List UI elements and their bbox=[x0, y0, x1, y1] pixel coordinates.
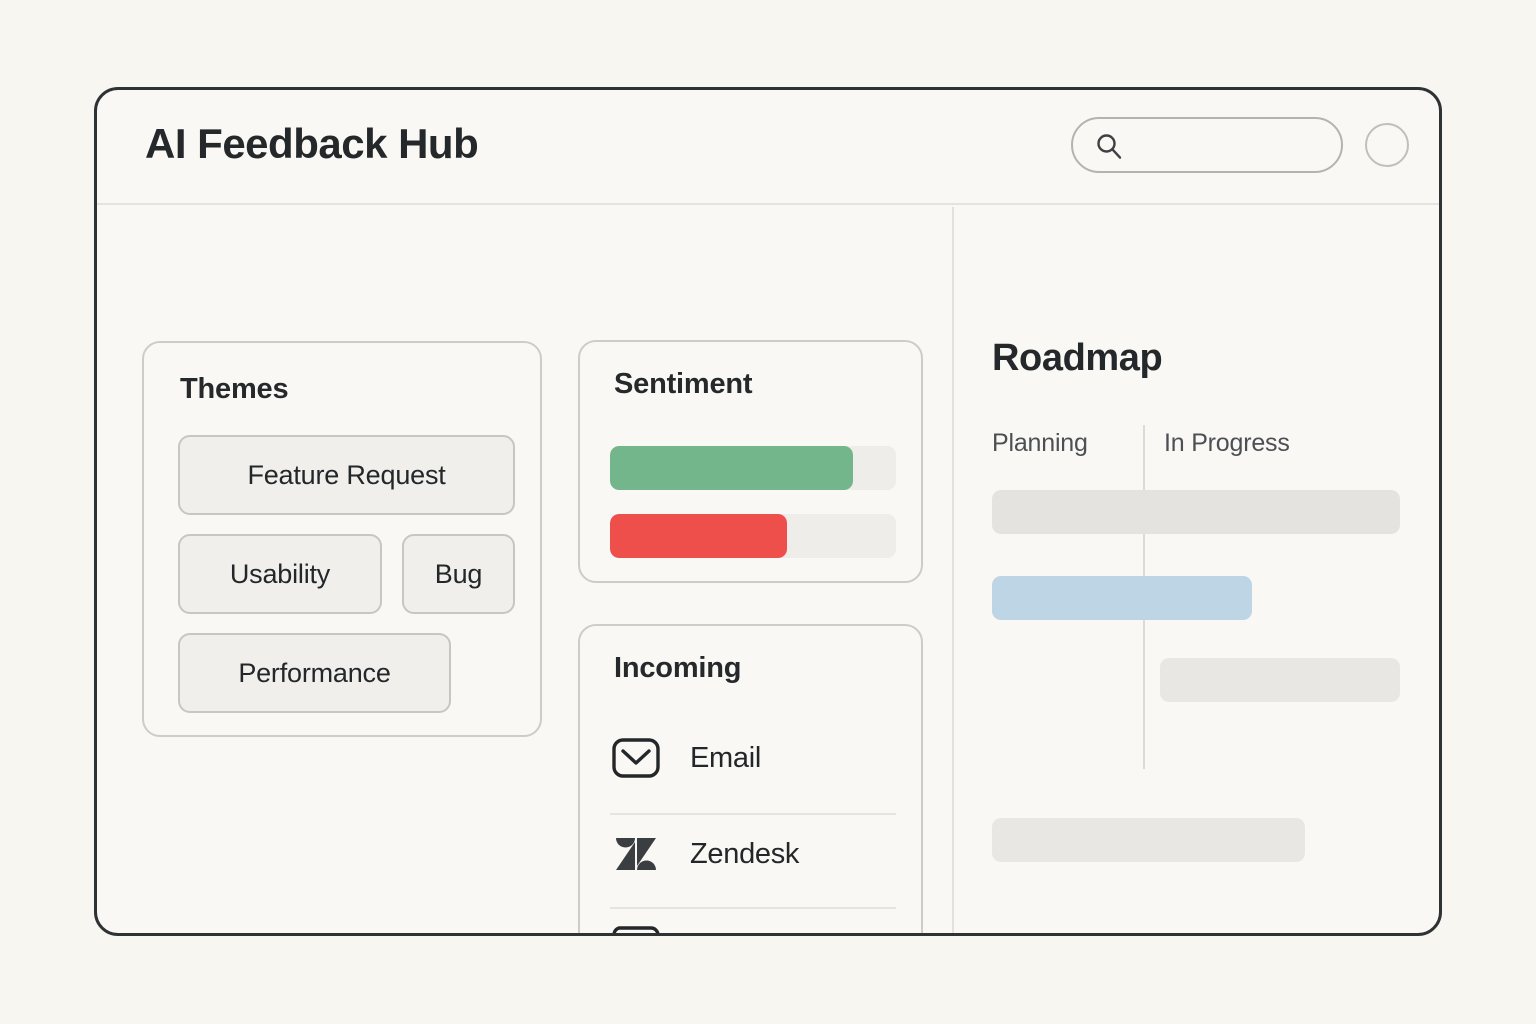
title-bar: AI Feedback Hub bbox=[97, 90, 1439, 205]
search-icon bbox=[1095, 132, 1123, 160]
theme-chip-bug[interactable]: Bug bbox=[402, 534, 515, 614]
sentiment-negative-bar bbox=[610, 514, 787, 558]
sentiment-positive-bar bbox=[610, 446, 853, 490]
envelope-icon bbox=[610, 732, 666, 784]
search-field[interactable] bbox=[1135, 119, 1325, 173]
theme-chip-performance[interactable]: Performance bbox=[178, 633, 451, 713]
roadmap-column-planning[interactable]: Planning bbox=[992, 429, 1088, 458]
roadmap-column-in-progress[interactable]: In Progress bbox=[1164, 429, 1290, 458]
channel-row-zendesk[interactable]: Zendesk bbox=[610, 813, 896, 893]
page-title: AI Feedback Hub bbox=[145, 120, 478, 168]
theme-chip-feature-request[interactable]: Feature Request bbox=[178, 435, 515, 515]
sentiment-panel: Sentiment bbox=[578, 340, 923, 583]
roadmap-panel: Roadmap Planning In Progress bbox=[992, 337, 1412, 936]
sentiment-title: Sentiment bbox=[614, 368, 752, 401]
sentiment-positive-track bbox=[610, 446, 896, 490]
roadmap-title: Roadmap bbox=[992, 337, 1162, 380]
channel-row-in-app[interactable]: In-App bbox=[610, 907, 896, 936]
app-window: AI Feedback Hub Themes Feature Request bbox=[94, 87, 1442, 936]
channel-label-in-app: In-App bbox=[690, 932, 774, 937]
search-input[interactable] bbox=[1071, 117, 1343, 173]
incoming-title: Incoming bbox=[614, 652, 741, 685]
panel-divider bbox=[952, 207, 954, 933]
channel-label-email: Email bbox=[690, 742, 761, 775]
avatar[interactable] bbox=[1365, 123, 1409, 167]
content-area: Themes Feature Request Usability Bug Per… bbox=[97, 207, 1439, 933]
roadmap-item[interactable] bbox=[992, 490, 1400, 534]
zendesk-icon bbox=[610, 828, 666, 880]
screen: AI Feedback Hub Themes Feature Request bbox=[0, 0, 1536, 1024]
roadmap-item[interactable] bbox=[1160, 658, 1400, 702]
chat-bubble-icon bbox=[610, 922, 666, 936]
themes-panel: Themes Feature Request Usability Bug Per… bbox=[142, 341, 542, 737]
themes-title: Themes bbox=[180, 373, 288, 406]
roadmap-item[interactable] bbox=[992, 818, 1305, 862]
channel-row-email[interactable]: Email bbox=[610, 719, 896, 797]
incoming-panel: Incoming Email bbox=[578, 624, 923, 936]
sentiment-negative-track bbox=[610, 514, 896, 558]
channel-label-zendesk: Zendesk bbox=[690, 838, 799, 871]
theme-chip-usability[interactable]: Usability bbox=[178, 534, 382, 614]
roadmap-item[interactable] bbox=[992, 576, 1252, 620]
